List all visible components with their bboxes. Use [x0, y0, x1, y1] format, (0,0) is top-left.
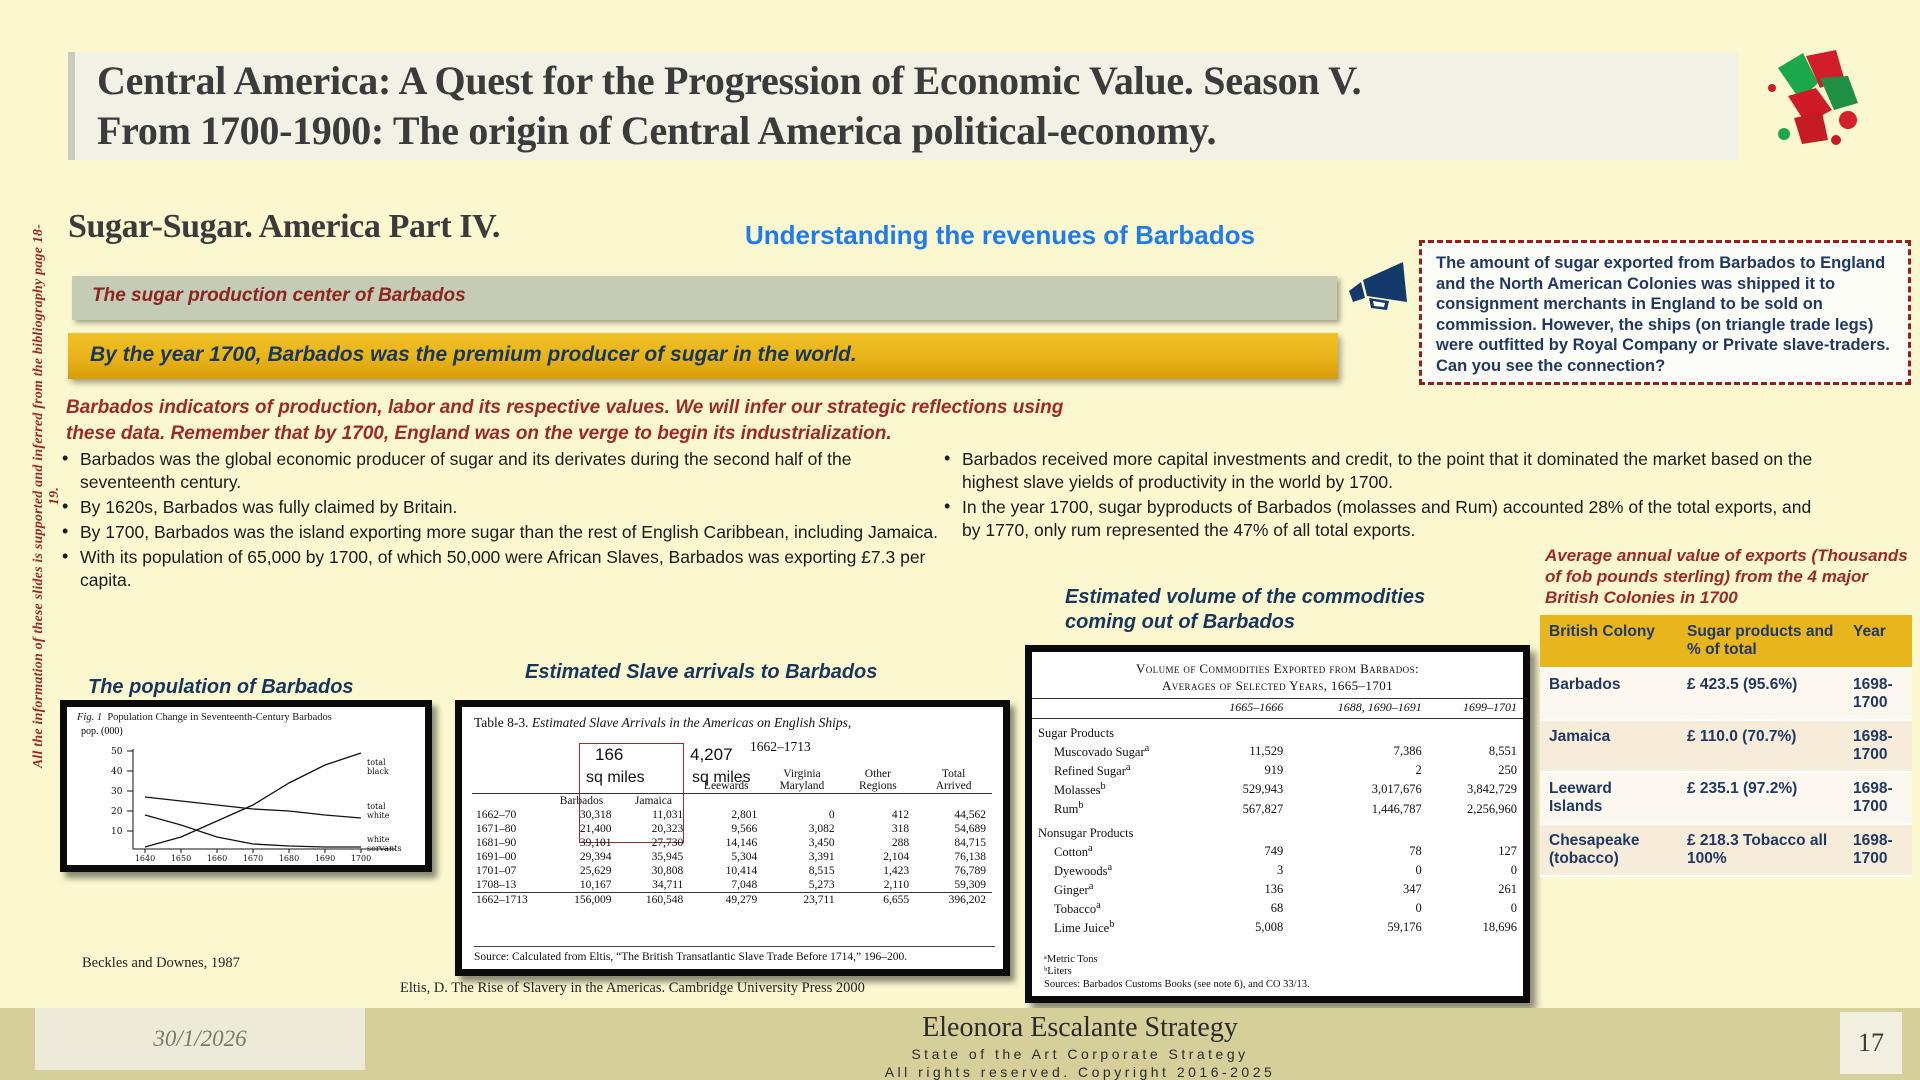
cell-1688: 0 — [1289, 861, 1428, 880]
col-1665-1666: 1665–1666 — [1194, 699, 1289, 719]
y-axis-label: pop. (000) — [67, 723, 425, 737]
cell-barbados: 156,009 — [545, 893, 617, 908]
cell-sugar: £ 110.0 (70.7%) — [1678, 720, 1844, 772]
cell-vm: 23,711 — [763, 893, 840, 908]
col-barbados — [545, 767, 617, 794]
cell-leewards: 7,048 — [689, 878, 763, 893]
cell-leewards: 10,414 — [689, 864, 763, 878]
cell-1665: 68 — [1194, 899, 1289, 918]
cell-year: 1698-1700 — [1844, 720, 1912, 772]
commodities-notes: ᵃMetric Tons ᵇLiters Sources: Barbados C… — [1044, 954, 1310, 992]
svg-text:1700: 1700 — [351, 854, 371, 863]
row-label-text: Cotton — [1054, 845, 1088, 859]
slave-arrivals-figure: Table 8-3. Estimated Slave Arrivals in t… — [455, 700, 1010, 976]
row-label-text: Molasses — [1054, 783, 1101, 797]
col-british-colony: British Colony — [1540, 615, 1678, 668]
table-row: Cottona 749 78 127 — [1032, 842, 1523, 861]
table-row: Dyewoodsa 3 0 0 — [1032, 861, 1523, 880]
svg-text:1680: 1680 — [279, 854, 299, 863]
title-line-1: Central America: A Quest for the Progres… — [97, 56, 1722, 106]
row-label-sup: a — [1089, 881, 1094, 892]
list-item: Barbados received more capital investmen… — [940, 448, 1820, 494]
col-1688-1691: 1688, 1690–1691 — [1289, 699, 1428, 719]
cell-year: 1698-1700 — [1844, 668, 1912, 720]
cell-year: 1698-1700 — [1844, 824, 1912, 876]
callout-box: The amount of sugar exported from Barbad… — [1419, 240, 1911, 385]
cell-1699: 127 — [1428, 842, 1523, 861]
cell-period: 1662–70 — [472, 808, 545, 822]
cell-1665: 3 — [1194, 861, 1289, 880]
slave-arrivals-table: Leewards VirginiaMaryland OtherRegions T… — [472, 767, 992, 907]
cell-total: 59,309 — [915, 878, 992, 893]
bullet-list-right: Barbados received more capital investmen… — [940, 448, 1820, 544]
sub-blank — [472, 794, 545, 809]
cell-jamaica: 11,031 — [618, 808, 690, 822]
slave-table-credit: Eltis, D. The Rise of Slavery in the Ame… — [400, 980, 1040, 997]
svg-text:black: black — [367, 767, 389, 776]
slave-table-caption-prefix: Table 8-3. — [474, 715, 529, 730]
cell-vm: 3,082 — [763, 822, 840, 836]
row-label: Tobaccoa — [1032, 899, 1194, 918]
table-row: Barbados £ 423.5 (95.6%) 1698-1700 — [1540, 668, 1912, 720]
svg-text:50: 50 — [111, 747, 123, 757]
paint-splash-decoration — [1748, 48, 1868, 158]
cell-colony: Chesapeake (tobacco) — [1540, 824, 1678, 876]
slave-table-caption-years: 1662–1713 — [750, 739, 811, 755]
cell-sugar: £ 218.3 Tobacco all 100% — [1678, 824, 1844, 876]
grey-banner-text: The sugar production center of Barbados — [72, 276, 1337, 307]
cell-1699: 0 — [1428, 899, 1523, 918]
figure-title: Population Change in Seventeenth-Century… — [107, 712, 332, 723]
table-header-row: Leewards VirginiaMaryland OtherRegions T… — [472, 767, 992, 794]
svg-text:total: total — [367, 758, 386, 767]
cell-1688: 347 — [1289, 880, 1428, 899]
slave-table-caption: Table 8-3. Estimated Slave Arrivals in t… — [462, 707, 1003, 731]
list-item: With its population of 65,000 by 1700, o… — [58, 546, 938, 592]
section-heading: Sugar-Sugar. America Part IV. — [68, 208, 500, 246]
cell-1665: 11,529 — [1194, 742, 1289, 761]
cell-1699: 8,551 — [1428, 742, 1523, 761]
sub-leewards — [689, 794, 763, 809]
table-row: 1708–13 10,167 34,711 7,048 5,273 2,110 … — [472, 878, 992, 893]
cell-barbados: 25,629 — [545, 864, 617, 878]
cell-1665: 5,008 — [1194, 918, 1289, 937]
understanding-heading: Understanding the revenues of Barbados — [745, 220, 1255, 251]
cell-other: 288 — [841, 836, 916, 850]
col-period — [472, 767, 545, 794]
group-nonsugar-products: Nonsugar Products — [1032, 819, 1523, 842]
cell-other: 2,110 — [841, 878, 916, 893]
sub-total — [915, 794, 992, 809]
svg-text:white: white — [367, 835, 390, 844]
row-label-text: Muscovado Sugar — [1054, 745, 1145, 759]
callout-text: The amount of sugar exported from Barbad… — [1436, 253, 1896, 376]
svg-text:servants: servants — [367, 844, 401, 853]
list-item: In the year 1700, sugar byproducts of Ba… — [940, 496, 1820, 542]
table-row: Lime Juiceb 5,008 59,176 18,696 — [1032, 918, 1523, 937]
brand-subtitle-2: All rights reserved. Copyright 2016-2025 — [700, 1064, 1460, 1080]
brand-name: Eleonora Escalante Strategy — [800, 1012, 1360, 1044]
svg-text:1650: 1650 — [171, 854, 191, 863]
cell-total: 76,138 — [915, 850, 992, 864]
jamaica-area-value: 4,207 — [690, 745, 733, 765]
row-label-sup: b — [1101, 781, 1106, 792]
cell-leewards: 14,146 — [689, 836, 763, 850]
col-jamaica — [618, 767, 690, 794]
cell-1699: 261 — [1428, 880, 1523, 899]
row-label-text: Dyewoods — [1054, 864, 1107, 878]
cell-other: 2,104 — [841, 850, 916, 864]
row-label-sup: b — [1109, 919, 1114, 930]
cell-colony: Jamaica — [1540, 720, 1678, 772]
cell-1688: 7,386 — [1289, 742, 1428, 761]
table-header-row: British Colony Sugar products and % of t… — [1540, 615, 1912, 668]
svg-text:30: 30 — [111, 787, 123, 797]
cell-total: 396,202 — [915, 893, 992, 908]
cell-1688: 2 — [1289, 761, 1428, 780]
population-credit: Beckles and Downes, 1987 — [82, 955, 240, 972]
intro-line-2: these data. Remember that by 1700, Engla… — [66, 421, 1276, 447]
cell-1688: 0 — [1289, 899, 1428, 918]
row-label-sup: a — [1088, 843, 1093, 854]
row-label-text: Ginger — [1054, 883, 1089, 897]
cell-vm: 3,450 — [763, 836, 840, 850]
group-label: Sugar Products — [1032, 719, 1523, 743]
cell-1699: 250 — [1428, 761, 1523, 780]
table-row: 1681–90 39,101 27,730 14,146 3,450 288 8… — [472, 836, 992, 850]
cell-jamaica: 34,711 — [618, 878, 690, 893]
sub-vm — [763, 794, 840, 809]
cell-1665: 749 — [1194, 842, 1289, 861]
cell-barbados: 10,167 — [545, 878, 617, 893]
row-label: Cottona — [1032, 842, 1194, 861]
svg-text:1690: 1690 — [315, 854, 335, 863]
cell-sugar: £ 423.5 (95.6%) — [1678, 668, 1844, 720]
table-row: 1701–07 25,629 30,808 10,414 8,515 1,423… — [472, 864, 992, 878]
table-row-total: 1662–1713 156,009 160,548 49,279 23,711 … — [472, 893, 992, 908]
cell-leewards: 2,801 — [689, 808, 763, 822]
cell-colony: Leeward Islands — [1540, 772, 1678, 824]
population-line-chart: 50 40 30 20 10 1640 1650 1660 1670 1680 … — [75, 745, 425, 871]
col-product — [1032, 699, 1194, 719]
note-b: ᵇLiters — [1044, 966, 1310, 979]
svg-text:white: white — [367, 811, 390, 820]
svg-text:1640: 1640 — [135, 854, 155, 863]
commodities-title-2: Averages of Selected Years, 1665–1701 — [1032, 677, 1523, 694]
gold-banner: By the year 1700, Barbados was the premi… — [68, 333, 1338, 379]
cell-period: 1681–90 — [472, 836, 545, 850]
cell-vm: 5,273 — [763, 878, 840, 893]
cell-barbados: 29,394 — [545, 850, 617, 864]
bullet-list-left: Barbados was the global economic produce… — [58, 448, 938, 594]
commodities-figure: Volume of Commodities Exported from Barb… — [1025, 645, 1530, 1003]
gold-banner-text: By the year 1700, Barbados was the premi… — [68, 333, 1338, 367]
cell-1699: 3,842,729 — [1428, 780, 1523, 799]
cell-other: 412 — [841, 808, 916, 822]
average-exports-caption: Average annual value of exports (Thousan… — [1545, 545, 1920, 608]
cell-total: 44,562 — [915, 808, 992, 822]
cell-1665: 567,827 — [1194, 799, 1289, 818]
note-sources: Sources: Barbados Customs Books (see not… — [1044, 979, 1310, 992]
cell-period: 1662–1713 — [472, 893, 545, 908]
list-item: Barbados was the global economic produce… — [58, 448, 938, 494]
row-label-sup: a — [1126, 762, 1131, 773]
brand-subtitle-1: State of the Art Corporate Strategy — [700, 1046, 1460, 1062]
sub-jamaica: Jamaica — [618, 794, 690, 809]
cell-1688: 1,446,787 — [1289, 799, 1428, 818]
col-1699-1701: 1699–1701 — [1428, 699, 1523, 719]
table-row: 1662–70 30,318 11,031 2,801 0 412 44,562 — [472, 808, 992, 822]
cell-vm: 3,391 — [763, 850, 840, 864]
row-label-sup: a — [1145, 743, 1150, 754]
table-row: Leeward Islands £ 235.1 (97.2%) 1698-170… — [1540, 772, 1912, 824]
table-row: Jamaica £ 110.0 (70.7%) 1698-1700 — [1540, 720, 1912, 772]
date-text: 30/1/2026 — [35, 1008, 365, 1052]
population-figure: Fig. 1 Population Change in Seventeenth-… — [60, 700, 432, 872]
table-row: Rumb 567,827 1,446,787 2,256,960 — [1032, 799, 1523, 818]
caption-slave-arrivals: Estimated Slave arrivals to Barbados — [525, 660, 877, 685]
group-label: Nonsugar Products — [1032, 819, 1523, 842]
sub-barbados: Barbados — [545, 794, 617, 809]
row-label: Gingera — [1032, 880, 1194, 899]
list-item: By 1700, Barbados was the island exporti… — [58, 521, 938, 544]
slide-root: All the information of these slides is s… — [0, 0, 1920, 1080]
col-year: Year — [1844, 615, 1912, 668]
commodities-title-1: Volume of Commodities Exported from Barb… — [1032, 652, 1523, 677]
date-box: 30/1/2026 — [35, 1008, 365, 1070]
cell-vm: 0 — [763, 808, 840, 822]
cell-1665: 919 — [1194, 761, 1289, 780]
cell-1665: 136 — [1194, 880, 1289, 899]
svg-text:10: 10 — [111, 827, 123, 837]
caption-commodities-line1: Estimated volume of the commodities — [1065, 585, 1485, 610]
caption-commodities-line2: coming out of Barbados — [1065, 610, 1485, 635]
table-subheader-row: Barbados Jamaica — [472, 794, 992, 809]
table-row: Muscovado Sugara 11,529 7,386 8,551 — [1032, 742, 1523, 761]
cell-jamaica: 35,945 — [618, 850, 690, 864]
cell-1699: 18,696 — [1428, 918, 1523, 937]
slide-title-bar: Central America: A Quest for the Progres… — [68, 52, 1738, 160]
sub-other — [841, 794, 916, 809]
cell-1699: 2,256,960 — [1428, 799, 1523, 818]
row-label-sup: a — [1107, 862, 1112, 873]
cell-jamaica: 30,808 — [618, 864, 690, 878]
cell-colony: Barbados — [1540, 668, 1678, 720]
cell-leewards: 49,279 — [689, 893, 763, 908]
note-a: ᵃMetric Tons — [1044, 954, 1310, 967]
row-label-text: Lime Juice — [1054, 921, 1109, 935]
table-row: Refined Sugara 919 2 250 — [1032, 761, 1523, 780]
intro-line-1: Barbados indicators of production, labor… — [66, 395, 1276, 421]
megaphone-icon — [1345, 258, 1417, 320]
table-row: 1691–00 29,394 35,945 5,304 3,391 2,104 … — [472, 850, 992, 864]
col-virginia-maryland: VirginiaMaryland — [763, 767, 840, 794]
cell-1665: 529,943 — [1194, 780, 1289, 799]
svg-text:1670: 1670 — [243, 854, 263, 863]
cell-jamaica: 27,730 — [618, 836, 690, 850]
caption-population: The population of Barbados — [88, 675, 354, 700]
cell-total: 84,715 — [915, 836, 992, 850]
col-sugar-products: Sugar products and % of total — [1678, 615, 1844, 668]
slide-footer: 30/1/2026 Eleonora Escalante Strategy St… — [0, 1008, 1920, 1080]
row-label: Molassesb — [1032, 780, 1194, 799]
cell-vm: 8,515 — [763, 864, 840, 878]
cell-barbados: 30,318 — [545, 808, 617, 822]
cell-barbados: 21,400 — [545, 822, 617, 836]
group-sugar-products: Sugar Products — [1032, 719, 1523, 743]
cell-other: 1,423 — [841, 864, 916, 878]
cell-1699: 0 — [1428, 861, 1523, 880]
cell-period: 1671–80 — [472, 822, 545, 836]
svg-text:total: total — [367, 802, 386, 811]
slave-table-source: Source: Calculated from Eltis, “The Brit… — [474, 946, 995, 963]
cell-total: 54,689 — [915, 822, 992, 836]
row-label-text: Rum — [1054, 803, 1078, 817]
row-label: Muscovado Sugara — [1032, 742, 1194, 761]
row-label-sup: b — [1078, 800, 1083, 811]
cell-barbados: 39,101 — [545, 836, 617, 850]
cell-period: 1701–07 — [472, 864, 545, 878]
cell-jamaica: 160,548 — [618, 893, 690, 908]
cell-year: 1698-1700 — [1844, 772, 1912, 824]
barbados-area-value: 166 — [595, 745, 623, 765]
cell-1688: 59,176 — [1289, 918, 1428, 937]
grey-banner: The sugar production center of Barbados — [72, 276, 1337, 320]
col-total-arrived: TotalArrived — [915, 767, 992, 794]
row-label: Refined Sugara — [1032, 761, 1194, 780]
cell-leewards: 9,566 — [689, 822, 763, 836]
caption-commodities: Estimated volume of the commodities comi… — [1065, 585, 1485, 635]
table-row: Tobaccoa 68 0 0 — [1032, 899, 1523, 918]
title-line-2: From 1700-1900: The origin of Central Am… — [97, 106, 1722, 156]
page-number: 17 — [1840, 1012, 1902, 1058]
table-row: Chesapeake (tobacco) £ 218.3 Tobacco all… — [1540, 824, 1912, 876]
table-row: Molassesb 529,943 3,017,676 3,842,729 — [1032, 780, 1523, 799]
svg-text:20: 20 — [111, 807, 123, 817]
row-label: Rumb — [1032, 799, 1194, 818]
colonies-table: British Colony Sugar products and % of t… — [1540, 615, 1912, 877]
cell-period: 1691–00 — [472, 850, 545, 864]
table-row: 1671–80 21,400 20,323 9,566 3,082 318 54… — [472, 822, 992, 836]
list-item: By 1620s, Barbados was fully claimed by … — [58, 496, 938, 519]
commodities-table: 1665–1666 1688, 1690–1691 1699–1701 Suga… — [1032, 698, 1523, 937]
cell-1688: 78 — [1289, 842, 1428, 861]
col-other-regions: OtherRegions — [841, 767, 916, 794]
row-label-sup: a — [1096, 900, 1101, 911]
cell-jamaica: 20,323 — [618, 822, 690, 836]
cell-sugar: £ 235.1 (97.2%) — [1678, 772, 1844, 824]
figure-caption: Fig. 1 Population Change in Seventeenth-… — [67, 707, 425, 723]
row-label: Dyewoodsa — [1032, 861, 1194, 880]
figure-label: Fig. 1 — [77, 712, 102, 723]
col-leewards: Leewards — [689, 767, 763, 794]
cell-1688: 3,017,676 — [1289, 780, 1428, 799]
cell-leewards: 5,304 — [689, 850, 763, 864]
row-label: Lime Juiceb — [1032, 918, 1194, 937]
row-label-text: Refined Sugar — [1054, 764, 1126, 778]
slave-table-caption-title: Estimated Slave Arrivals in the Americas… — [532, 715, 851, 730]
row-label-text: Tobacco — [1054, 902, 1096, 916]
intro-paragraph: Barbados indicators of production, labor… — [66, 395, 1276, 447]
cell-other: 318 — [841, 822, 916, 836]
svg-text:1660: 1660 — [207, 854, 227, 863]
cell-total: 76,789 — [915, 864, 992, 878]
commodities-header-row: 1665–1666 1688, 1690–1691 1699–1701 — [1032, 699, 1523, 719]
page-number-box: 17 — [1840, 1012, 1902, 1074]
table-row: Gingera 136 347 261 — [1032, 880, 1523, 899]
svg-text:40: 40 — [111, 767, 123, 777]
cell-period: 1708–13 — [472, 878, 545, 893]
cell-other: 6,655 — [841, 893, 916, 908]
